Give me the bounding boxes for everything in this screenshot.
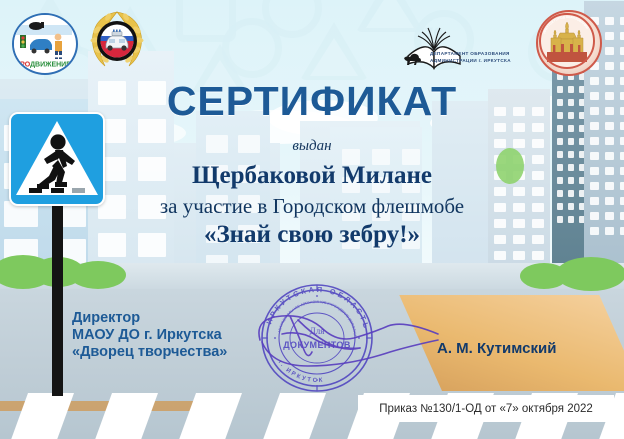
page-title: СЕРТИФИКАТ xyxy=(0,78,624,125)
department-logo-text: ДЕПАРТАМЕНТ ОБРАЗОВАНИЯ АДМИНИСТРАЦИИ г.… xyxy=(430,50,511,64)
gibdd-artwork xyxy=(86,10,148,72)
bush-left-3 xyxy=(70,261,126,289)
signatory-role: Директор МАОУ ДО г. Иркутска «Дворец тво… xyxy=(72,310,227,361)
order-reference-box: Приказ №130/1-ОД от «7» октября 2022 xyxy=(358,395,614,422)
prodvizhenie-logo: ПРОДВИЖЕНИЕ xyxy=(12,13,78,75)
recipient-name: Щербаковой Милане xyxy=(0,162,624,190)
certificate: 70 xyxy=(0,0,624,439)
department-of-education-logo: ДЕПАРТАМЕНТ ОБРАЗОВАНИЯ АДМИНИСТРАЦИИ г.… xyxy=(400,22,532,76)
event-name: «Знай свою зебру!» xyxy=(0,221,624,249)
cathedral-icon: ИРКУТСК ГОРОД ОБРАЗОВАНИЯ xyxy=(538,12,596,70)
open-book-icon xyxy=(400,22,532,76)
pedestrian-figure-icon xyxy=(11,114,103,204)
award-reason: за участие в Городском флешмобе xyxy=(0,194,624,219)
issued-label: выдан xyxy=(0,138,624,155)
irkutsk-cathedral-emblem: ИРКУТСК ГОРОД ОБРАЗОВАНИЯ xyxy=(536,10,602,76)
bush-right-2 xyxy=(520,263,568,289)
signatory-role-line3: «Дворец творчества» xyxy=(72,344,227,361)
gibdd-emblem xyxy=(86,10,148,72)
handwritten-signature xyxy=(246,276,456,386)
pedestrian-crossing-sign xyxy=(9,112,105,206)
prodvizhenie-artwork: ПРОДВИЖЕНИЕ xyxy=(14,15,72,69)
signatory-role-line2: МАОУ ДО г. Иркутска xyxy=(72,327,227,344)
signatory-role-line1: Директор xyxy=(72,310,227,327)
svg-text:ПРОДВИЖЕНИЕ: ПРОДВИЖЕНИЕ xyxy=(15,62,71,69)
order-reference-text: Приказ №130/1-ОД от «7» октября 2022 xyxy=(379,403,593,415)
